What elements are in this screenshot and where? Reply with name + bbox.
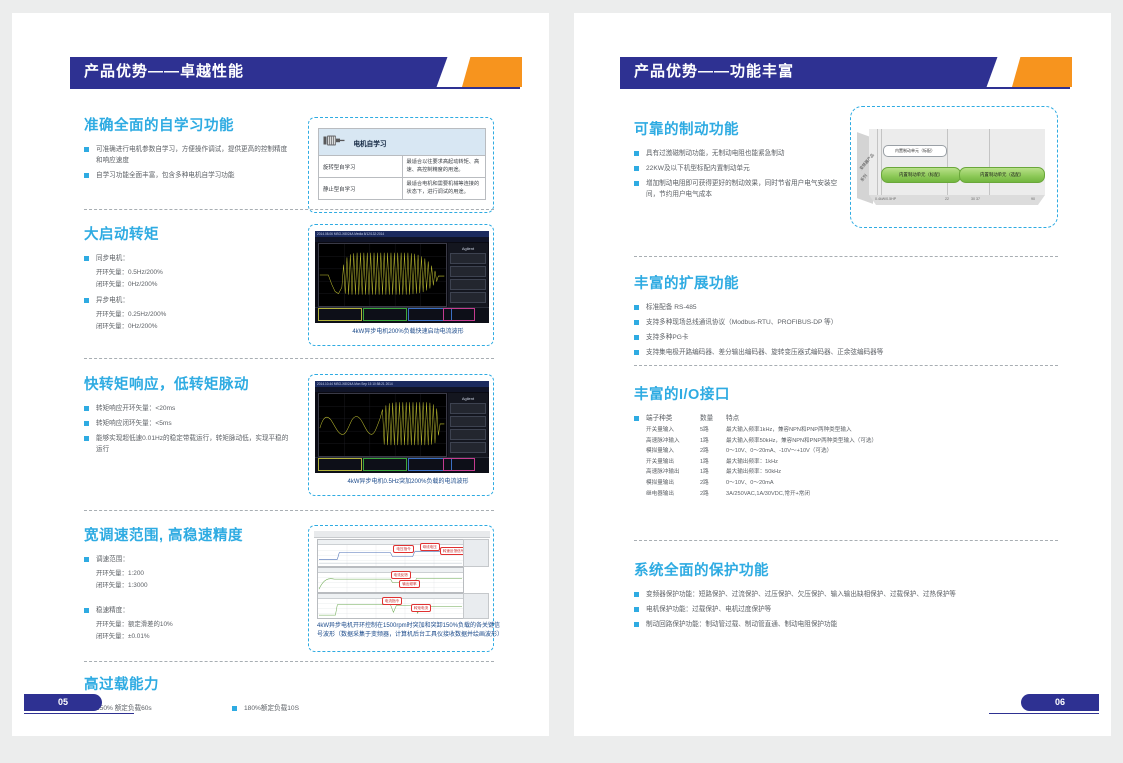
sub-line: 闭环矢量：1:3000 bbox=[84, 581, 289, 592]
brochure-spread: 产品优势——卓越性能 准确全面的自学习功能 可准确进行电机参数自学习，方便操作调… bbox=[0, 0, 1123, 763]
bar-label: 内置制动单元（标配） bbox=[882, 168, 960, 182]
scope-side-box bbox=[450, 266, 486, 277]
list-item: 可准确进行电机参数自学习，方便操作调试，提供更高的控制精度和响应速度 bbox=[84, 144, 289, 166]
list-item: 标准配备 RS-485 bbox=[634, 302, 964, 313]
banner-underline bbox=[70, 87, 520, 89]
figure-braking-chart: 内置制动单元（标配） 内置制动单元（标配） 内置制动单元（选配） 变频器产品 系… bbox=[850, 106, 1058, 228]
chart-gridline bbox=[877, 129, 878, 195]
table-row: 开关量输出 1路 最大输出频率：1kHz bbox=[646, 457, 877, 468]
plot-legend-panel-3 bbox=[463, 593, 489, 619]
section-title: 高过载能力 bbox=[84, 673, 494, 694]
plot-panel-3: 电流指令 转矩电流 bbox=[317, 593, 464, 619]
io-cell-count: 2路 bbox=[700, 489, 726, 500]
figure-caption: 4kW异步电机0.5Hz突加200%负载的电流波形 bbox=[309, 478, 507, 487]
list-item: 具有过激磁制动功能，无制动电阻也能紧急制动 bbox=[634, 148, 849, 159]
plot-legend-panel-1 bbox=[463, 539, 489, 567]
scope-side-box bbox=[450, 416, 486, 427]
io-cell-feature: 最大输出频率：1kHz bbox=[726, 457, 877, 468]
bullet-list: 可准确进行电机参数自学习，方便操作调试，提供更高的控制精度和响应速度 自学习功能… bbox=[84, 144, 289, 181]
list-item: 端子种类数量特点 bbox=[634, 413, 1034, 424]
sub-line: 开环矢量：1:200 bbox=[84, 569, 289, 580]
table-cell-label: 静止型自学习 bbox=[319, 178, 403, 200]
list-item: 调速范围： bbox=[84, 554, 289, 565]
sub-line: 闭环矢量：0Hz/200% bbox=[84, 322, 289, 333]
sub-line: 开环矢量：0.25Hz/200% bbox=[84, 310, 289, 321]
scope-channel-chip bbox=[318, 308, 362, 321]
list-item: 支持多种现场总线通讯协议（Modbus-RTU、PROFIBUS-DP 等） bbox=[634, 317, 964, 328]
bullet-list: 150% 额定负载60s bbox=[84, 703, 232, 718]
figure-caption: 4kW异步电机开环控制在1500rpm时突加和突卸150%负载的各关键信号波形（… bbox=[309, 622, 511, 639]
motor-icon bbox=[323, 133, 345, 151]
table-row: 开关量输入 5路 最大输入频率1kHz，兼容NPN和PNP两种类型输入 bbox=[646, 425, 877, 436]
table-row: 高速脉冲输入 1路 最大输入频率50kHz，兼容NPN和PNP两种类型输入（可选… bbox=[646, 436, 877, 447]
list-item: 变频器保护功能：短路保护、过流保护、过压保护、欠压保护、输入输出缺相保护、过载保… bbox=[634, 589, 1054, 600]
io-cell-feature: 3A/250VAC,1A/30VDC,常开+常闭 bbox=[726, 489, 877, 500]
bullet-list: 转矩响应开环矢量：<20ms 转矩响应闭环矢量：<5ms 能够实现超低速0.01… bbox=[84, 403, 294, 455]
plot-panel-1: 电压指令 母线电压 转速反馈信号 bbox=[317, 539, 464, 567]
list-item: 180%额定负载10S bbox=[232, 703, 299, 714]
braking-pill-standard: 内置制动单元（标配） bbox=[883, 145, 947, 157]
table-row: 静止型自学习 最适合电机和需要机械等连接的状态下，进行调试的用途。 bbox=[319, 178, 486, 200]
figure-self-learning-table: 电机自学习 旋转型自学习 最适合以往要求高起动转矩、高速、高控制精度的用途。 静… bbox=[308, 117, 494, 213]
annotation-tag: 电流反馈 bbox=[391, 571, 411, 579]
figure-scope-lowfreq: 2014.10.44 MSO-X8024A Mon Sep 15 10:58:2… bbox=[308, 374, 494, 496]
list-item: 稳速精度： bbox=[84, 605, 289, 616]
chart-gridline bbox=[947, 129, 948, 195]
oscilloscope-screen: 2014.10.44 MSO-X8024A Mon Sep 15 10:58:2… bbox=[315, 381, 489, 473]
scope-grid bbox=[318, 393, 447, 457]
annotation-tag: 电流指令 bbox=[382, 597, 402, 605]
list-item: 自学习功能全面丰富，包含多种电机自学习功能 bbox=[84, 170, 289, 181]
section-divider bbox=[634, 540, 1058, 541]
io-cell-count: 5路 bbox=[700, 425, 726, 436]
io-cell-type: 开关量输出 bbox=[646, 457, 700, 468]
io-cell-count: 1路 bbox=[700, 467, 726, 478]
scope-channel-chip bbox=[443, 308, 475, 321]
section-divider bbox=[84, 358, 494, 359]
right-page: 产品优势——功能丰富 可靠的制动功能 具有过激磁制动功能，无制动电阻也能紧急制动… bbox=[574, 13, 1111, 736]
list-item: 同步电机： bbox=[84, 253, 289, 264]
section-divider bbox=[84, 661, 494, 662]
section-title: 宽调速范围, 高稳速精度 bbox=[84, 524, 289, 545]
scope-menubar bbox=[315, 387, 489, 392]
right-banner-title: 产品优势——功能丰富 bbox=[634, 57, 794, 87]
list-item: 制动回路保护功能：制动管过载、制动管直通、制动电阻保护功能 bbox=[634, 619, 1054, 630]
table-row: 模拟量输入 2路 0～10V、0～20mA、-10V～+10V（可选） bbox=[646, 446, 877, 457]
sub-line: 闭环矢量：±0.01% bbox=[84, 632, 289, 643]
section-divider bbox=[84, 510, 494, 511]
section-divider bbox=[634, 256, 1058, 257]
oscilloscope-screen: 2014.08.06 MSO-X8024A Media 8/12/132:201… bbox=[315, 231, 489, 323]
banner-orange-block bbox=[1012, 57, 1072, 87]
window-toolbar bbox=[314, 531, 490, 538]
io-cell-type: 模拟量输入 bbox=[646, 446, 700, 457]
list-item: 电机保护功能：过载保护、电机过度保护等 bbox=[634, 604, 1054, 615]
chart-gridline bbox=[989, 129, 990, 195]
section-braking: 可靠的制动功能 具有过激磁制动功能，无制动电阻也能紧急制动 22KW及以下机型标… bbox=[634, 118, 849, 204]
braking-range-chart: 内置制动单元（标配） 内置制动单元（标配） 内置制动单元（选配） 变频器产品 系… bbox=[855, 111, 1055, 223]
table-row: 高速脉冲输出 1路 最大输出频率：50kHz bbox=[646, 467, 877, 478]
list-item: 增加制动电阻即可获得更好的制动效果，同时节省用户电气安装空间，节约用户电气成本 bbox=[634, 178, 849, 200]
scope-brand-label: Agilent bbox=[448, 243, 488, 251]
table-row: 电机自学习 bbox=[319, 129, 486, 156]
io-cell-count: 2路 bbox=[700, 446, 726, 457]
list-item: 支持多种PG卡 bbox=[634, 332, 964, 343]
plot-panel-2: 电流反馈 输出频率 bbox=[317, 567, 464, 593]
section-io: 丰富的I/O接口 端子种类数量特点 开关量输入 5路 最大输入频率1kHz，兼容… bbox=[634, 383, 1034, 499]
footer-line-right bbox=[989, 713, 1099, 714]
list-item: 能够实现超低速0.01Hz的稳定带载运行，转矩脉动低，实现平稳的运行 bbox=[84, 433, 294, 455]
io-col-header-feature: 特点 bbox=[726, 415, 739, 422]
left-page-banner: 产品优势——卓越性能 bbox=[70, 57, 520, 87]
scope-brand-label: Agilent bbox=[448, 393, 488, 401]
scope-bottombar bbox=[315, 307, 489, 323]
section-protection: 系统全面的保护功能 变频器保护功能：短路保护、过流保护、过压保护、欠压保护、输入… bbox=[634, 559, 1054, 634]
io-cell-count: 1路 bbox=[700, 436, 726, 447]
io-col-header-type: 端子种类 bbox=[646, 413, 700, 424]
io-header-bullet: 端子种类数量特点 bbox=[634, 413, 1034, 424]
table-row: 旋转型自学习 最适合以往要求高起动转矩、高速、高控制精度的用途。 bbox=[319, 156, 486, 178]
section-divider bbox=[634, 365, 1058, 366]
scope-menubar bbox=[315, 237, 489, 242]
table-row: 继电器输出 2路 3A/250VAC,1A/30VDC,常开+常闭 bbox=[646, 489, 877, 500]
overload-row: 150% 额定负载60s 180%额定负载10S bbox=[84, 703, 494, 718]
bullet-list: 180%额定负载10S bbox=[232, 703, 299, 718]
table-row: 模拟量输出 2路 0～10V、0～20mA bbox=[646, 478, 877, 489]
banner-orange-block bbox=[462, 57, 522, 87]
annotation-tag: 转矩电流 bbox=[411, 604, 431, 612]
bullet-list: 调速范围： bbox=[84, 554, 289, 565]
bullet-list: 异步电机： bbox=[84, 295, 289, 306]
section-title: 丰富的I/O接口 bbox=[634, 383, 1034, 404]
scope-side-box bbox=[450, 279, 486, 290]
io-cell-type: 高速脉冲输出 bbox=[646, 467, 700, 478]
io-cell-feature: 最大输入频率1kHz，兼容NPN和PNP两种类型输入 bbox=[726, 425, 877, 436]
io-col-header-count: 数量 bbox=[700, 413, 726, 424]
section-title: 快转矩响应，低转矩脉动 bbox=[84, 373, 294, 394]
scope-bottombar bbox=[315, 457, 489, 473]
chart-x-tick-1: 22 bbox=[945, 197, 949, 201]
self-learning-table: 电机自学习 旋转型自学习 最适合以往要求高起动转矩、高速、高控制精度的用途。 静… bbox=[318, 128, 486, 200]
io-cell-type: 继电器输出 bbox=[646, 489, 700, 500]
table-cell-label: 旋转型自学习 bbox=[319, 156, 403, 178]
scope-side-box bbox=[450, 442, 486, 453]
section-overload: 高过载能力 150% 额定负载60s 180%额定负载10S bbox=[84, 673, 494, 718]
section-title: 可靠的制动功能 bbox=[634, 118, 849, 139]
scope-channel-chip bbox=[318, 458, 362, 471]
io-cell-type: 高速脉冲输入 bbox=[646, 436, 700, 447]
scope-grid bbox=[318, 243, 447, 307]
bullet-list: 具有过激磁制动功能，无制动电阻也能紧急制动 22KW及以下机型标配内置制动单元 … bbox=[634, 148, 849, 200]
table-cell-value: 最适合以往要求高起动转矩、高速、高控制精度的用途。 bbox=[402, 156, 486, 178]
scope-channel-chip bbox=[443, 458, 475, 471]
bullet-list: 标准配备 RS-485 支持多种现场总线通讯协议（Modbus-RTU、PROF… bbox=[634, 302, 964, 358]
figure-multiplot: 电压指令 母线电压 转速反馈信号 电流反馈 输出 bbox=[308, 525, 494, 652]
waveform-trace bbox=[319, 394, 446, 456]
waveform-trace bbox=[319, 244, 446, 306]
pill-label: 内置制动单元（标配） bbox=[884, 146, 946, 156]
scope-channel-chip bbox=[363, 458, 407, 471]
scope-side-box bbox=[450, 292, 486, 303]
scope-sidebar: Agilent bbox=[448, 243, 488, 307]
braking-bar-standard: 内置制动单元（标配） bbox=[881, 167, 961, 183]
io-table: 开关量输入 5路 最大输入频率1kHz，兼容NPN和PNP两种类型输入 高速脉冲… bbox=[646, 425, 877, 499]
section-title: 系统全面的保护功能 bbox=[634, 559, 1054, 580]
scope-sidebar: Agilent bbox=[448, 393, 488, 457]
chart-plot-area bbox=[869, 129, 1045, 195]
section-extension: 丰富的扩展功能 标准配备 RS-485 支持多种现场总线通讯协议（Modbus-… bbox=[634, 272, 964, 362]
page-number-left: 05 bbox=[24, 694, 102, 711]
chart-gridline bbox=[881, 129, 882, 195]
page-number-right: 06 bbox=[1021, 694, 1099, 711]
bullet-list: 同步电机： bbox=[84, 253, 289, 264]
io-cell-type: 模拟量输出 bbox=[646, 478, 700, 489]
section-self-learning: 准确全面的自学习功能 可准确进行电机参数自学习，方便操作调试，提供更高的控制精度… bbox=[84, 114, 289, 185]
banner-underline bbox=[620, 87, 1070, 89]
section-speed-range: 宽调速范围, 高稳速精度 调速范围： 开环矢量：1:200 闭环矢量：1:300… bbox=[84, 524, 289, 643]
footer-line-left bbox=[24, 713, 134, 714]
table-header-cell: 电机自学习 bbox=[319, 129, 486, 156]
table-cell-value: 最适合电机和需要机械等连接的状态下，进行调试的用途。 bbox=[402, 178, 486, 200]
right-page-banner: 产品优势——功能丰富 bbox=[620, 57, 1070, 87]
braking-bar-optional: 内置制动单元（选配） bbox=[959, 167, 1045, 183]
list-item: 转矩响应闭环矢量：<5ms bbox=[84, 418, 294, 429]
chart-x-tick-2: 30 37 bbox=[971, 197, 980, 201]
list-item: 22KW及以下机型标配内置制动单元 bbox=[634, 163, 849, 174]
figure-caption: 4kW异步电机200%负载快速启动电流波形 bbox=[309, 328, 507, 337]
io-cell-feature: 0～10V、0～20mA bbox=[726, 478, 877, 489]
chart-x-tick-3: 90 bbox=[1031, 197, 1035, 201]
list-item: 转矩响应开环矢量：<20ms bbox=[84, 403, 294, 414]
io-cell-type: 开关量输入 bbox=[646, 425, 700, 436]
list-item: 支持集电极开路编码器、差分输出编码器、旋转变压器式编码器、正余弦编码器等 bbox=[634, 347, 964, 358]
annotation-tag: 母线电压 bbox=[420, 543, 440, 551]
section-torque-response: 快转矩响应，低转矩脉动 转矩响应开环矢量：<20ms 转矩响应闭环矢量：<5ms… bbox=[84, 373, 294, 459]
list-item: 异步电机： bbox=[84, 295, 289, 306]
bar-label: 内置制动单元（选配） bbox=[960, 168, 1044, 182]
io-cell-feature: 最大输入频率50kHz，兼容NPN和PNP两种类型输入（可选） bbox=[726, 436, 877, 447]
sub-line: 闭环矢量：0Hz/200% bbox=[84, 280, 289, 291]
chart-x-tick-0: 0.4kW/0.5HP bbox=[875, 197, 896, 201]
annotation-tag: 电压指令 bbox=[393, 545, 413, 553]
io-cell-count: 2路 bbox=[700, 478, 726, 489]
self-learning-header-text: 电机自学习 bbox=[353, 141, 386, 148]
io-cell-feature: 0～10V、0～20mA、-10V～+10V（可选） bbox=[726, 446, 877, 457]
sub-line: 开环矢量：额定滑差的10% bbox=[84, 620, 289, 631]
scope-side-box bbox=[450, 403, 486, 414]
left-page: 产品优势——卓越性能 准确全面的自学习功能 可准确进行电机参数自学习，方便操作调… bbox=[12, 13, 549, 736]
data-logger-window: 电压指令 母线电压 转速反馈信号 电流反馈 输出 bbox=[314, 531, 490, 619]
bullet-list: 稳速精度： bbox=[84, 605, 289, 616]
section-title: 丰富的扩展功能 bbox=[634, 272, 964, 293]
io-cell-count: 1路 bbox=[700, 457, 726, 468]
bullet-list: 变频器保护功能：短路保护、过流保护、过压保护、欠压保护、输入输出缺相保护、过载保… bbox=[634, 589, 1054, 630]
scope-channel-chip bbox=[363, 308, 407, 321]
io-cell-feature: 最大输出频率：50kHz bbox=[726, 467, 877, 478]
section-starting-torque: 大启动转矩 同步电机： 开环矢量：0.5Hz/200% 闭环矢量：0Hz/200… bbox=[84, 223, 289, 333]
scope-side-box bbox=[450, 429, 486, 440]
scope-side-box bbox=[450, 253, 486, 264]
sub-line: 开环矢量：0.5Hz/200% bbox=[84, 268, 289, 279]
section-title: 准确全面的自学习功能 bbox=[84, 114, 289, 135]
figure-scope-startup: 2014.08.06 MSO-X8024A Media 8/12/132:201… bbox=[308, 224, 494, 346]
annotation-tag: 输出频率 bbox=[399, 580, 419, 588]
section-divider bbox=[84, 209, 494, 210]
left-banner-title: 产品优势——卓越性能 bbox=[84, 57, 244, 87]
section-title: 大启动转矩 bbox=[84, 223, 289, 244]
